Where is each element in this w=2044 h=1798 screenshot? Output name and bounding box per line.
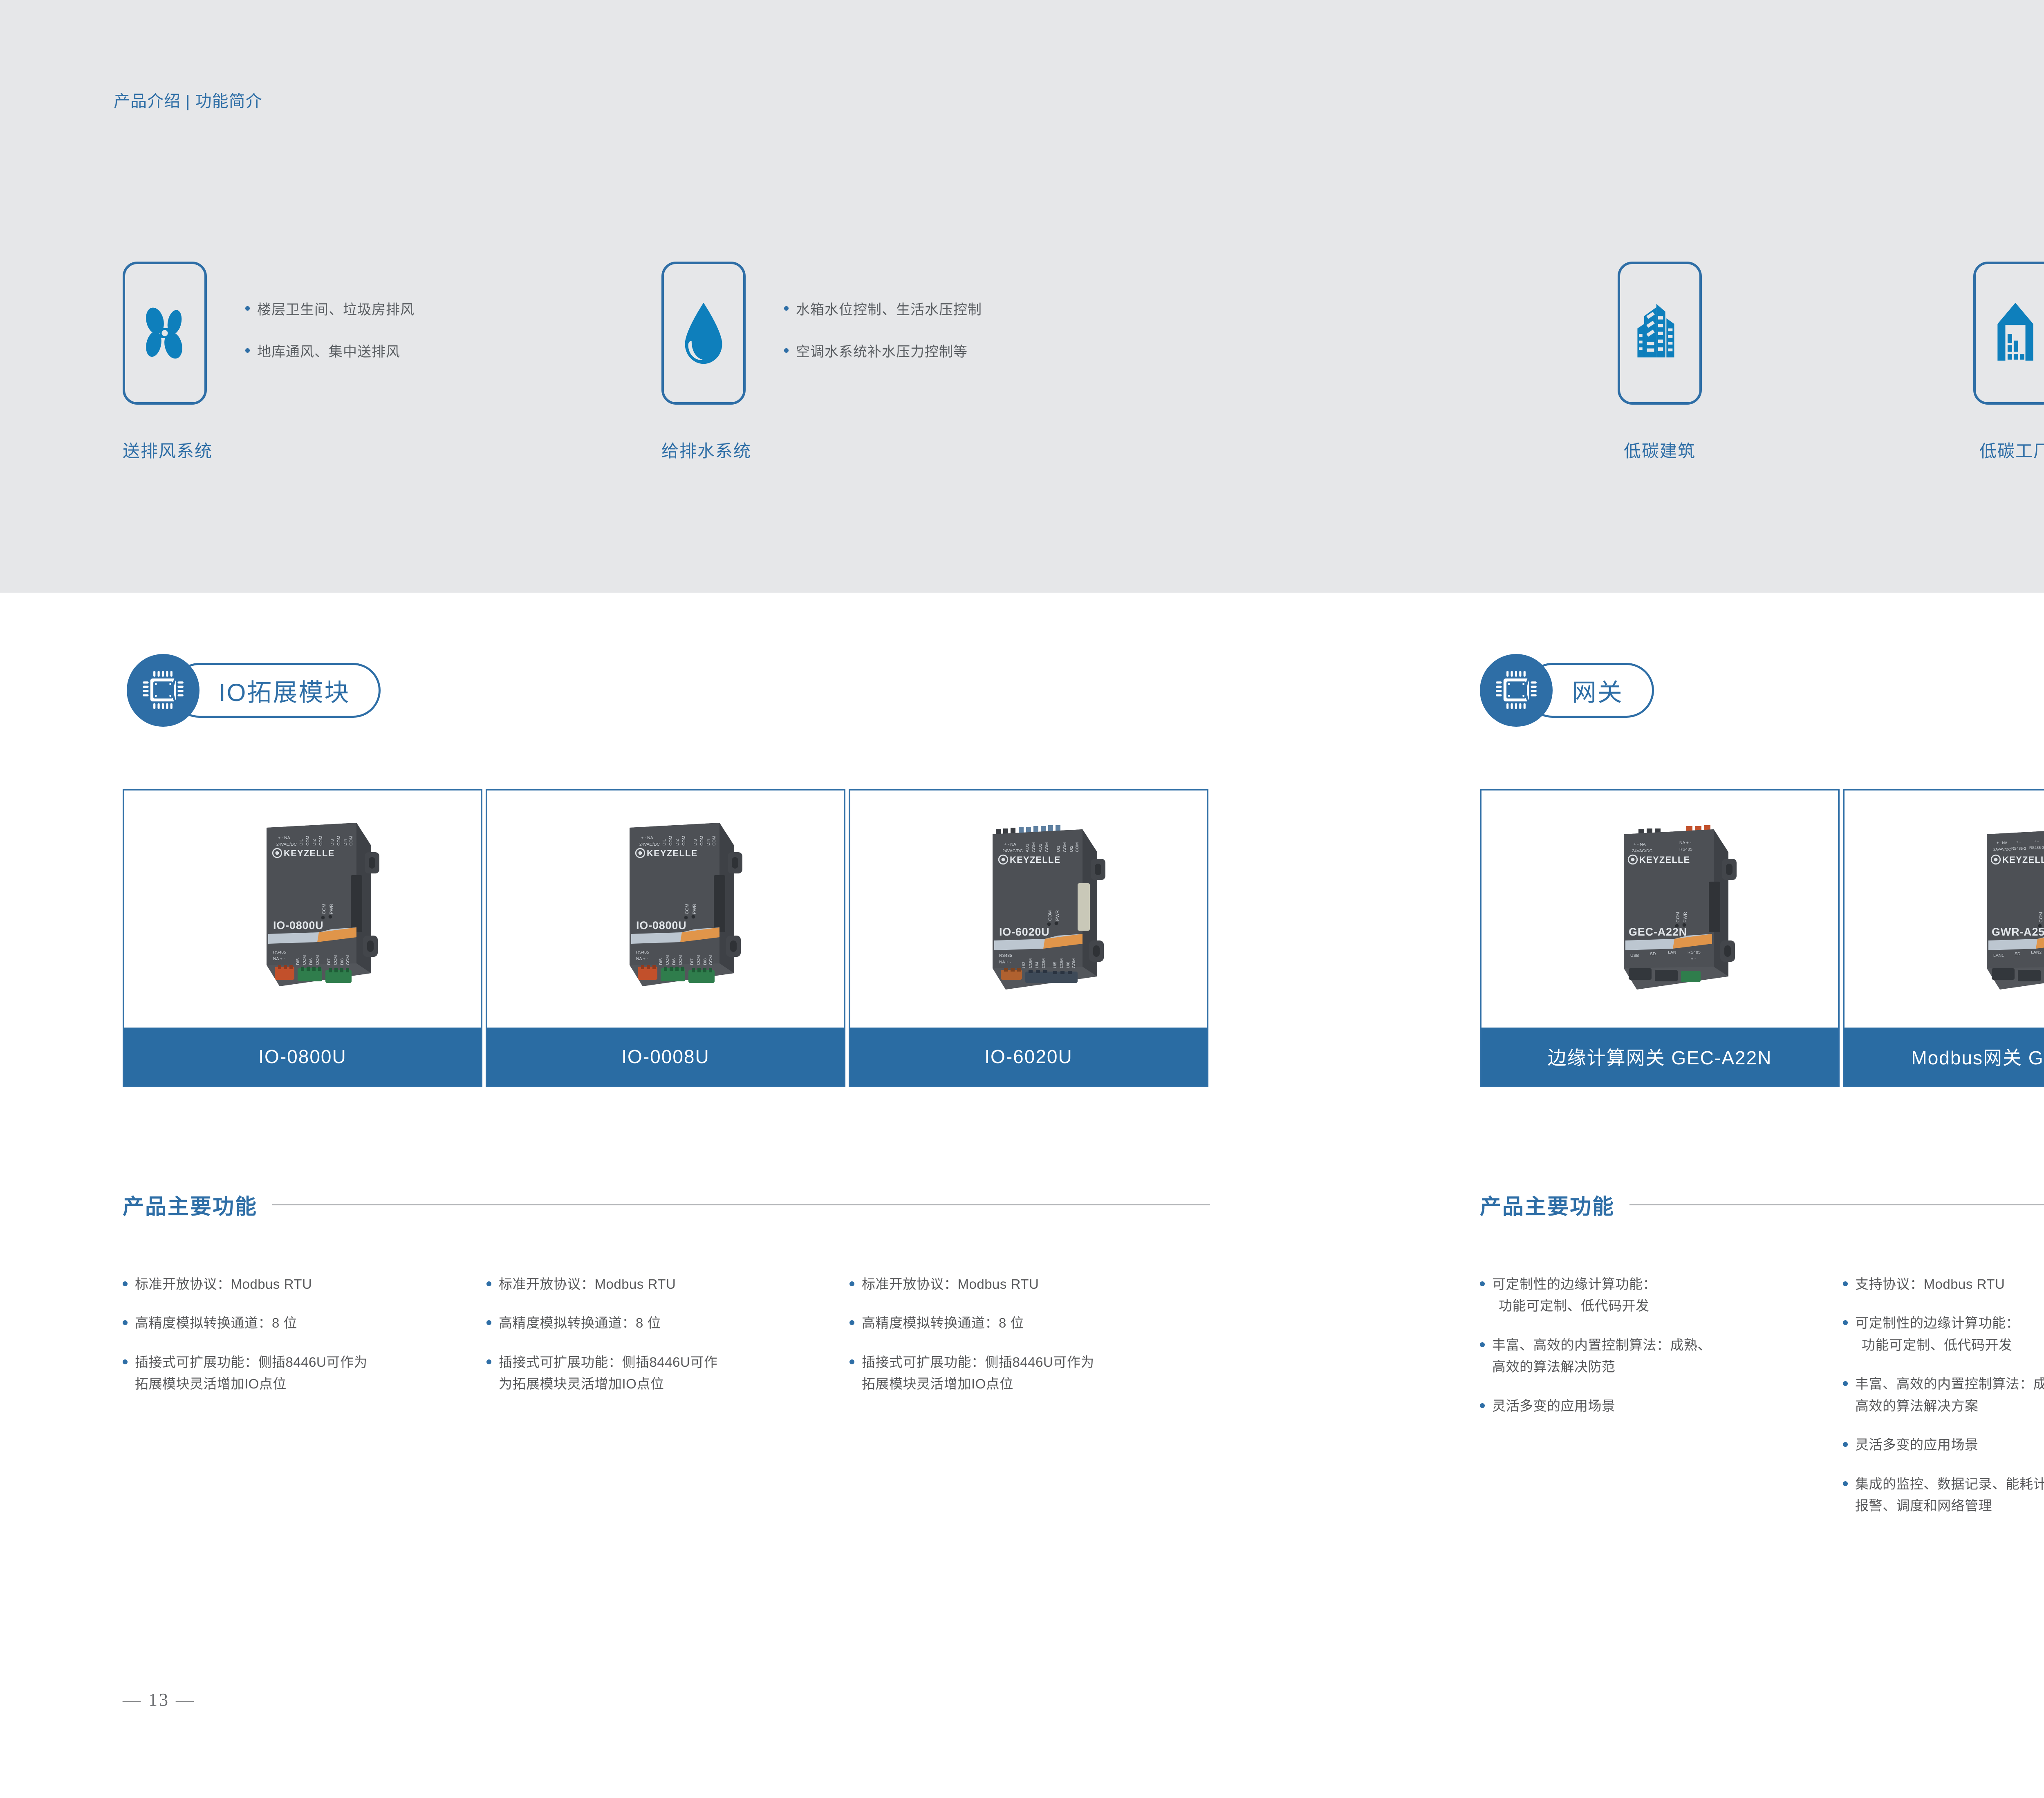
product-card[interactable]: + - NA 2AVAV/DC + - RS485-2 + - RS485-3 … (1843, 789, 2044, 1087)
svg-text:RS485-3: RS485-3 (2029, 846, 2044, 850)
feature-item: 标准开放协议：Modbus RTU (123, 1273, 478, 1295)
bullet-dot-icon (849, 1359, 854, 1364)
svg-text:DI6: DI6 (309, 958, 314, 965)
feature-line: 高效的算法解决防范 (1492, 1356, 1711, 1377)
feature-item: 高精度模拟转换通道：8 位 (486, 1312, 842, 1334)
bullet-dot-icon (1480, 1403, 1485, 1408)
product-name: Modbus网关 GWR-A25N (1911, 1043, 2044, 1070)
svg-text:COM: COM (709, 955, 713, 965)
feature-item: 高精度模拟转换通道：8 位 (123, 1312, 478, 1334)
feature-line: 高效的算法解决方案 (1855, 1395, 2044, 1417)
svg-text:DI8: DI8 (703, 958, 708, 965)
bullet-dot-icon (1843, 1381, 1848, 1386)
svg-text:KEYZELLE: KEYZELLE (1010, 855, 1061, 865)
brochure-spread: 产品介绍 | 功能简介 产品介绍 | 功能简介 (0, 0, 2044, 1798)
features-title-gateway: 产品主要功能 (1480, 1189, 2044, 1220)
office-building-icon-box (1618, 262, 1702, 405)
bullet-dot-icon (1843, 1481, 1848, 1486)
features-title-text: 产品主要功能 (123, 1189, 258, 1220)
svg-text:DI8: DI8 (340, 958, 345, 965)
svg-text:IO-0800U: IO-0800U (636, 919, 686, 931)
bullet-dot-icon (245, 306, 250, 311)
scenario-low-carbon-factory: 低碳工厂 (1962, 262, 2044, 462)
svg-text:COM: COM (1060, 958, 1064, 968)
bullet-dot-icon (1480, 1342, 1485, 1347)
svg-text:NA + -: NA + - (1679, 841, 1691, 845)
svg-text:COM: COM (1029, 958, 1033, 968)
water-drop-icon (677, 300, 730, 367)
bullet-dot-icon (784, 306, 789, 311)
feature-line: 标准开放协议：Modbus RTU (862, 1273, 1039, 1295)
fan-icon (134, 302, 195, 364)
scenario-caption: 低碳建筑 (1607, 437, 1713, 462)
feature-line: 集成的监控、数据记录、能耗计量、 (1855, 1473, 2044, 1495)
svg-text:LAN: LAN (1668, 950, 1676, 955)
svg-text:DI3: DI3 (693, 839, 698, 846)
svg-text:IO-0800U: IO-0800U (273, 919, 323, 931)
bullet-dot-icon (1843, 1281, 1848, 1286)
bullet-text: 空调水系统补水压力控制等 (796, 340, 968, 360)
svg-text:+ -: + - (2016, 840, 2021, 844)
feature-line: 可定制性的边缘计算功能： (1855, 1312, 2019, 1334)
feature-item: 插接式可扩展功能：侧插8446U可作为 拓展模块灵活增加IO点位 (849, 1351, 1209, 1395)
svg-text:COM: COM (1075, 842, 1080, 852)
bullet-dot-icon (486, 1281, 491, 1286)
feature-line: 高精度模拟转换通道：8 位 (135, 1312, 297, 1334)
svg-text:COM: COM (349, 836, 354, 846)
product-card[interactable]: + - NA 24VAC/DC AO1 COM AO2 COM UI1 COM … (849, 789, 1208, 1087)
scenario-low-carbon-building: 低碳建筑 (1607, 262, 1713, 462)
svg-text:RS485: RS485 (999, 954, 1012, 958)
svg-text:UI2: UI2 (1069, 846, 1074, 852)
feature-line: 报警、调度和网络管理 (1855, 1495, 2044, 1516)
title-rule (1629, 1204, 2044, 1205)
svg-text:SD: SD (2015, 952, 2020, 956)
svg-text:24VAC/DC: 24VAC/DC (276, 842, 297, 847)
svg-text:RS485: RS485 (1679, 847, 1692, 852)
svg-text:AO1: AO1 (1025, 844, 1030, 852)
svg-text:KEYZELLE: KEYZELLE (284, 848, 335, 858)
svg-text:DI6: DI6 (672, 958, 677, 965)
bullet-item: 空调水系统补水压力控制等 (784, 340, 982, 360)
feature-line: 丰富、高效的内置控制算法：成熟、 (1855, 1373, 2044, 1395)
feature-line: 拓展模块灵活增加IO点位 (135, 1373, 368, 1395)
svg-text:24VAC/DC: 24VAC/DC (639, 842, 660, 847)
feature-line: 灵活多变的应用场景 (1492, 1395, 1616, 1417)
svg-text:COM: COM (1045, 842, 1049, 852)
bullet-dot-icon (1843, 1442, 1848, 1447)
svg-text:+ -: + - (1691, 957, 1696, 961)
feature-line: 标准开放协议：Modbus RTU (135, 1273, 312, 1295)
product-name-bar: Modbus网关 GWR-A25N (1845, 1028, 2044, 1086)
svg-text:2AVAV/DC: 2AVAV/DC (1993, 847, 2011, 851)
feature-column: 标准开放协议：Modbus RTU 高精度模拟转换通道：8 位 插接式可扩展功能… (123, 1273, 478, 1412)
svg-text:COM: COM (1048, 910, 1053, 921)
svg-text:RS485: RS485 (636, 950, 649, 955)
feature-line: 插接式可扩展功能：侧插8446U可作为 (135, 1351, 368, 1373)
svg-text:RS485-2: RS485-2 (2011, 846, 2026, 851)
svg-text:GWR-A25N: GWR-A25N (1992, 926, 2044, 938)
scenario-caption: 送排风系统 (123, 437, 213, 462)
svg-text:AO2: AO2 (1038, 844, 1043, 852)
svg-text:COM: COM (685, 904, 690, 914)
svg-text:DI1: DI1 (662, 839, 667, 846)
feature-line: 标准开放协议：Modbus RTU (499, 1273, 676, 1295)
bullet-dot-icon (486, 1320, 491, 1325)
svg-text:NA + -: NA + - (636, 957, 648, 961)
bullet-dot-icon (123, 1359, 128, 1364)
svg-text:COM: COM (1676, 912, 1681, 923)
feature-line: 高精度模拟转换通道：8 位 (862, 1312, 1024, 1334)
svg-text:UI3: UI3 (1022, 962, 1026, 968)
running-head-left: 产品介绍 | 功能简介 (114, 88, 262, 112)
feature-item: 丰富、高效的内置控制算法：成熟、 高效的算法解决防范 (1480, 1334, 1831, 1378)
svg-text:PWR: PWR (1055, 910, 1060, 921)
bullet-text: 地库通风、集中送排风 (257, 340, 400, 360)
svg-text:RS485: RS485 (1688, 950, 1701, 955)
section-badge-label: IO拓展模块 (219, 673, 350, 708)
svg-text:PWR: PWR (692, 904, 697, 914)
factory-icon-box (1973, 262, 2044, 405)
scenario-caption: 给排水系统 (661, 437, 751, 462)
svg-text:COM: COM (682, 836, 686, 846)
feature-line: 功能可定制、低代码开发 (1855, 1334, 2019, 1356)
product-image: + - NA 24VAC/DC AO1 COM AO2 COM UI1 COM … (850, 790, 1207, 1028)
feature-item: 插接式可扩展功能：侧插8446U可作 为拓展模块灵活增加IO点位 (486, 1351, 842, 1395)
svg-text:DI4: DI4 (343, 839, 348, 846)
product-name-bar: IO-6020U (850, 1028, 1207, 1086)
bullet-dot-icon (784, 348, 789, 353)
svg-text:LAN2: LAN2 (2031, 950, 2042, 955)
svg-text:DI5: DI5 (296, 958, 300, 965)
feature-line: 灵活多变的应用场景 (1855, 1434, 1979, 1455)
svg-text:COM: COM (334, 955, 338, 965)
feature-item: 丰富、高效的内置控制算法：成熟、 高效的算法解决方案 (1843, 1373, 2044, 1417)
scenario-water-bullets: 水箱水位控制、生活水压控制 空调水系统补水压力控制等 (784, 298, 982, 360)
svg-text:COM: COM (316, 955, 320, 965)
product-image: + - NA 2AVAV/DC + - RS485-2 + - RS485-3 … (1845, 790, 2044, 1028)
section-badge-io-modules: IO拓展模块 (127, 654, 429, 727)
feature-item: 高精度模拟转换通道：8 位 (849, 1312, 1209, 1334)
svg-text:KEYZELLE: KEYZELLE (2002, 855, 2044, 865)
svg-text:DI5: DI5 (659, 958, 663, 965)
svg-text:KEYZELLE: KEYZELLE (1639, 855, 1690, 865)
svg-text:NA + -: NA + - (273, 957, 285, 961)
product-card[interactable]: + - NA 24VAC/DC NA + - RS485 USB SD LAN … (1480, 789, 1840, 1087)
feature-line: 高精度模拟转换通道：8 位 (499, 1312, 661, 1334)
svg-text:SD: SD (1650, 952, 1656, 956)
svg-text:24VAC/DC: 24VAC/DC (1632, 849, 1653, 853)
scenario-caption: 低碳工厂 (1962, 437, 2044, 462)
bullet-item: 地库通风、集中送排风 (245, 340, 415, 360)
product-image: + - NA 24VAC/DC DI1 COM DI2 COM DI3 COM … (124, 790, 481, 1028)
bullet-text: 水箱水位控制、生活水压控制 (796, 298, 982, 318)
svg-text:COM: COM (319, 836, 323, 846)
feature-item: 标准开放协议：Modbus RTU (849, 1273, 1209, 1295)
bullet-dot-icon (1843, 1320, 1848, 1325)
product-card[interactable]: + - NA 24VAC/DC DI1 COM DI2 COM DI3 COM … (123, 789, 482, 1087)
svg-text:COM: COM (1072, 958, 1076, 968)
svg-text:+ - NA: + - NA (1004, 842, 1016, 847)
title-rule (272, 1204, 1210, 1205)
bullet-dot-icon (1480, 1281, 1485, 1286)
svg-text:DI3: DI3 (330, 839, 335, 846)
feature-item: 可定制性的边缘计算功能： 功能可定制、低代码开发 (1480, 1273, 1831, 1317)
features-title-io: 产品主要功能 (123, 1189, 1210, 1220)
features-title-text: 产品主要功能 (1480, 1189, 1615, 1220)
svg-text:UI4: UI4 (1035, 962, 1040, 968)
bullet-dot-icon (849, 1281, 854, 1286)
feature-line: 为拓展模块灵活增加IO点位 (499, 1373, 717, 1395)
svg-text:+ - NA: + - NA (1997, 841, 2008, 845)
svg-text:+ - NA: + - NA (1634, 842, 1646, 847)
svg-text:IO-6020U: IO-6020U (999, 926, 1049, 938)
svg-text:COM: COM (306, 836, 310, 846)
top-gray-band (0, 0, 2044, 593)
feature-line: 支持协议：Modbus RTU (1855, 1273, 2005, 1295)
feature-line: 功能可定制、低代码开发 (1492, 1295, 1656, 1317)
product-name-bar: IO-0008U (487, 1028, 844, 1086)
svg-text:COM: COM (679, 955, 683, 965)
svg-text:COM: COM (303, 955, 307, 965)
product-name-bar: IO-0800U (124, 1028, 481, 1086)
svg-text:UI5: UI5 (1053, 962, 1058, 968)
svg-text:PWR: PWR (1683, 912, 1688, 923)
bullet-dot-icon (123, 1320, 128, 1325)
svg-text:COM: COM (712, 836, 717, 846)
feature-item: 支持协议：Modbus RTU (1843, 1273, 2044, 1295)
svg-text:UI1: UI1 (1056, 846, 1061, 852)
product-name: IO-0008U (621, 1046, 709, 1068)
feature-column: 标准开放协议：Modbus RTU 高精度模拟转换通道：8 位 插接式可扩展功能… (486, 1273, 842, 1412)
product-name: 边缘计算网关 GEC-A22N (1548, 1043, 1772, 1070)
svg-text:RS485: RS485 (273, 950, 286, 955)
svg-text:DI2: DI2 (312, 839, 317, 846)
bullet-text: 楼层卫生间、垃圾房排风 (257, 298, 415, 318)
product-name-bar: 边缘计算网关 GEC-A22N (1481, 1028, 1838, 1086)
office-building-icon (1631, 302, 1688, 365)
feature-item: 插接式可扩展功能：侧插8446U可作为 拓展模块灵活增加IO点位 (123, 1351, 478, 1395)
bullet-dot-icon (486, 1359, 491, 1364)
product-image: + - NA 24VAC/DC NA + - RS485 USB SD LAN … (1481, 790, 1838, 1028)
svg-text:GEC-A22N: GEC-A22N (1629, 926, 1687, 938)
feature-item: 可定制性的边缘计算功能： 功能可定制、低代码开发 (1843, 1312, 2044, 1356)
svg-text:USB: USB (1630, 954, 1639, 958)
page-number-left: — 13 — (123, 1689, 195, 1710)
feature-item: 集成的监控、数据记录、能耗计量、 报警、调度和网络管理 (1843, 1473, 2044, 1517)
product-name: IO-6020U (984, 1046, 1072, 1068)
feature-column: 支持协议：Modbus RTU 可定制性的边缘计算功能： 功能可定制、低代码开发… (1843, 1273, 2044, 1534)
svg-text:24VAC/DC: 24VAC/DC (1002, 849, 1023, 853)
bullet-item: 楼层卫生间、垃圾房排风 (245, 298, 415, 318)
svg-text:COM: COM (322, 904, 327, 914)
product-card[interactable]: + - NA 24VAC/DC DI1 COM DI2 COM DI3 COM … (486, 789, 845, 1087)
factory-icon (1993, 302, 2038, 365)
feature-line: 插接式可扩展功能：侧插8446U可作 (499, 1351, 717, 1373)
svg-text:+ - NA: + - NA (641, 836, 653, 840)
svg-text:+ -: + - (2034, 839, 2039, 843)
svg-text:COM: COM (1042, 958, 1046, 968)
svg-text:COM: COM (669, 836, 673, 846)
fan-icon-box (123, 262, 207, 405)
svg-text:COM: COM (697, 955, 701, 965)
feature-item: 灵活多变的应用场景 (1480, 1395, 1831, 1417)
bullet-dot-icon (849, 1320, 854, 1325)
section-badge-pill: IO拓展模块 (172, 663, 381, 718)
feature-line: 插接式可扩展功能：侧插8446U可作为 (862, 1351, 1094, 1373)
section-badge-label: 网关 (1572, 673, 1623, 708)
product-name: IO-0800U (258, 1046, 346, 1068)
svg-text:LAN1: LAN1 (1993, 954, 2004, 958)
svg-text:UI6: UI6 (1066, 962, 1071, 968)
svg-text:COM: COM (337, 836, 341, 846)
svg-text:+ - NA: + - NA (278, 836, 290, 840)
svg-text:DI2: DI2 (675, 839, 680, 846)
section-badge-gateway: 网关 (1480, 654, 1733, 727)
feature-line: 可定制性的边缘计算功能： (1492, 1273, 1656, 1295)
svg-text:COM: COM (1032, 842, 1036, 852)
svg-text:COM: COM (346, 955, 350, 965)
water-drop-icon-box (661, 262, 746, 405)
svg-text:COM: COM (1063, 842, 1067, 852)
svg-text:PWR: PWR (329, 904, 334, 914)
svg-text:NA + -: NA + - (999, 960, 1011, 965)
feature-line: 拓展模块灵活增加IO点位 (862, 1373, 1094, 1395)
product-image: + - NA 24VAC/DC DI1 COM DI2 COM DI3 COM … (487, 790, 844, 1028)
svg-text:DI7: DI7 (690, 958, 695, 965)
scenario-ventilation-bullets: 楼层卫生间、垃圾房排风 地库通风、集中送排风 (245, 298, 415, 360)
feature-line: 丰富、高效的内置控制算法：成熟、 (1492, 1334, 1711, 1356)
section-badge-pill: 网关 (1525, 663, 1654, 718)
svg-text:COM: COM (666, 955, 670, 965)
svg-text:COM: COM (700, 836, 704, 846)
bullet-dot-icon (245, 348, 250, 353)
svg-text:COM: COM (2039, 912, 2044, 923)
feature-column: 可定制性的边缘计算功能： 功能可定制、低代码开发 丰富、高效的内置控制算法：成熟… (1480, 1273, 1831, 1434)
svg-text:DI7: DI7 (327, 958, 332, 965)
feature-column: 标准开放协议：Modbus RTU 高精度模拟转换通道：8 位 插接式可扩展功能… (849, 1273, 1209, 1412)
bullet-dot-icon (123, 1281, 128, 1286)
feature-item: 标准开放协议：Modbus RTU (486, 1273, 842, 1295)
svg-text:DI1: DI1 (299, 839, 304, 846)
feature-item: 灵活多变的应用场景 (1843, 1434, 2044, 1455)
svg-text:KEYZELLE: KEYZELLE (647, 848, 698, 858)
bullet-item: 水箱水位控制、生活水压控制 (784, 298, 982, 318)
svg-text:DI4: DI4 (706, 839, 711, 846)
